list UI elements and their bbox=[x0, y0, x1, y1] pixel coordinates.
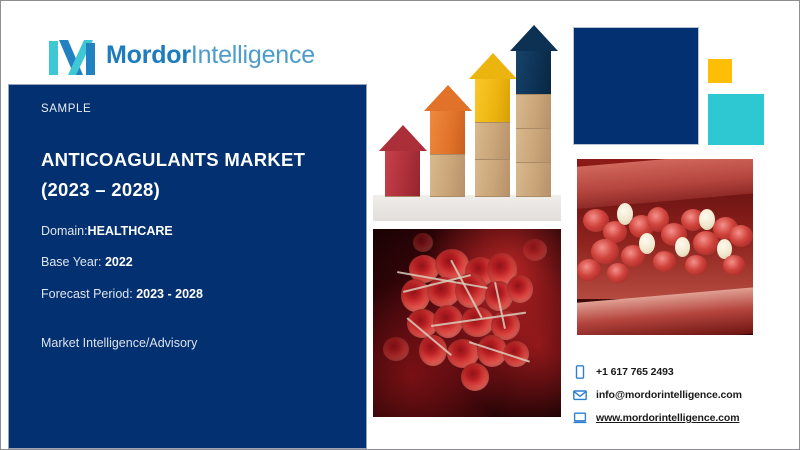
monitor-icon bbox=[573, 411, 587, 425]
meta-row-domain: Domain:HEALTHCARE bbox=[41, 223, 351, 239]
meta-value-forecast-period: 2023 - 2028 bbox=[136, 287, 203, 301]
advisory-note: Market Intelligence/Advisory bbox=[41, 336, 197, 350]
contact-row-website[interactable]: www.mordorintelligence.com bbox=[573, 411, 783, 425]
report-title-line-2: (2023 – 2028) bbox=[41, 175, 351, 205]
phone-icon bbox=[573, 365, 587, 379]
blood-vessel-flow-photo bbox=[577, 159, 753, 335]
report-title-line-1: ANTICOAGULANTS MARKET bbox=[41, 149, 305, 170]
meta-value-domain: HEALTHCARE bbox=[88, 224, 173, 238]
contact-email-text: info@mordorintelligence.com bbox=[596, 389, 742, 401]
report-info-panel: SAMPLE ANTICOAGULANTS MARKET (2023 – 202… bbox=[8, 84, 367, 449]
brand-name-light: Intelligence bbox=[191, 41, 315, 69]
meta-value-base-year: 2022 bbox=[105, 255, 133, 269]
contact-row-email[interactable]: info@mordorintelligence.com bbox=[573, 388, 783, 402]
report-metadata-list: Domain:HEALTHCARE Base Year: 2022 Foreca… bbox=[41, 223, 351, 317]
report-cover-page: MordorIntelligence SAMPLE ANTICOAGULANTS… bbox=[0, 0, 800, 450]
contact-block: +1 617 765 2493 info@mordorintelligence.… bbox=[573, 365, 783, 434]
brand-wordmark: MordorIntelligence bbox=[106, 43, 315, 68]
sample-badge: SAMPLE bbox=[41, 103, 91, 115]
meta-label-domain: Domain: bbox=[41, 224, 88, 238]
decor-square-navy bbox=[573, 27, 699, 145]
wooden-block-growth-chart-photo bbox=[373, 21, 561, 221]
brand-name-bold: Mordor bbox=[106, 41, 191, 69]
decor-square-yellow bbox=[708, 59, 732, 83]
meta-label-forecast-period: Forecast Period: bbox=[41, 287, 133, 301]
contact-row-phone[interactable]: +1 617 765 2493 bbox=[573, 365, 783, 379]
contact-website-text: www.mordorintelligence.com bbox=[596, 412, 739, 424]
meta-label-base-year: Base Year: bbox=[41, 255, 101, 269]
mordor-m-logo-icon bbox=[49, 35, 95, 75]
page-title: ANTICOAGULANTS MARKET (2023 – 2028) bbox=[41, 145, 351, 205]
blood-clot-red-cells-photo bbox=[373, 229, 561, 417]
decor-square-cyan bbox=[708, 94, 764, 145]
brand-header: MordorIntelligence bbox=[49, 35, 315, 75]
meta-row-base-year: Base Year: 2022 bbox=[41, 254, 351, 270]
contact-phone-text: +1 617 765 2493 bbox=[596, 366, 674, 378]
envelope-icon bbox=[573, 388, 587, 402]
meta-row-forecast-period: Forecast Period: 2023 - 2028 bbox=[41, 286, 351, 302]
